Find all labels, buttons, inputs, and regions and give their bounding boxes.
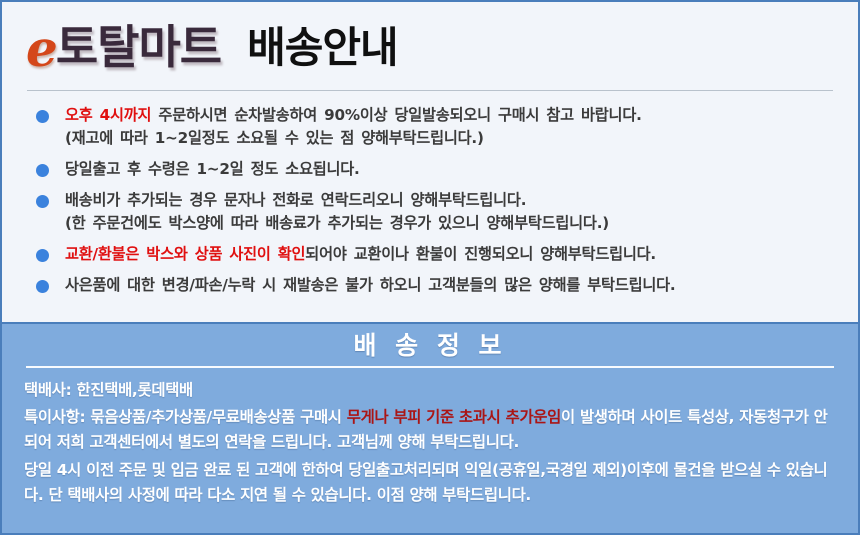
delivery-info-body: 택배사: 한진택배,롯데택배 특이사항: 묶음상품/추가상품/무료배송상품 구매… [2, 378, 858, 509]
list-item: 배송비가 추가되는 경우 문자나 전화로 연락드리오니 양해부탁드립니다. (한… [30, 189, 840, 234]
notice-text: 당일출고 후 수령은 1~2일 정도 소요됩니다. [65, 158, 360, 180]
page-header: e토탈마트 배송안내 [2, 2, 858, 90]
delivery-info-panel: 배 송 정 보 택배사: 한진택배,롯데택배 특이사항: 묶음상품/추가상품/무… [2, 322, 858, 533]
notice-emphasis: 교환/환불은 박스와 상품 사진이 확인 [65, 245, 305, 263]
notice-text: 교환/환불은 박스와 상품 사진이 확인되어야 교환이나 환불이 진행되오니 양… [65, 243, 656, 265]
bullet-icon [36, 164, 49, 177]
notice-body: 배송비가 추가되는 경우 문자나 전화로 연락드리오니 양해부탁드립니다. [65, 191, 526, 209]
page-title: 배송안내 [247, 27, 398, 69]
special-notes-line: 특이사항: 묶음상품/추가상품/무료배송상품 구매시 무게나 부피 기준 초과시… [24, 405, 836, 455]
special-prefix: 특이사항: 묶음상품/추가상품/무료배송상품 구매시 [24, 408, 347, 426]
logo-wordmark: 토탈마트 [56, 24, 221, 70]
notice-list: 오후 4시까지 주문하시면 순차발송하여 90%이상 당일발송되오니 구매시 참… [2, 90, 858, 324]
courier-line: 택배사: 한진택배,롯데택배 [24, 378, 836, 403]
notice-body: 주문하시면 순차발송하여 90%이상 당일발송되오니 구매시 참고 바랍니다. [151, 106, 641, 124]
list-item: 사은품에 대한 변경/파손/누락 시 재발송은 불가 하오니 고객분들의 많은 … [30, 274, 840, 296]
logo-e-mark: e [26, 24, 56, 74]
special-emphasis-surcharge: 추가운임 [506, 408, 561, 426]
delivery-info-divider [26, 366, 834, 368]
notice-body: 사은품에 대한 변경/파손/누락 시 재발송은 불가 하오니 고객분들의 많은 … [65, 276, 676, 294]
bullet-icon [36, 195, 49, 208]
notice-text: 배송비가 추가되는 경우 문자나 전화로 연락드리오니 양해부탁드립니다. (한… [65, 189, 609, 234]
brand-logo[interactable]: e토탈마트 [26, 21, 221, 71]
notice-subtext: (한 주문건에도 박스양에 따라 배송료가 추가되는 경우가 있으니 양해부탁드… [65, 212, 609, 234]
bullet-icon [36, 280, 49, 293]
delivery-info-title: 배 송 정 보 [2, 324, 858, 366]
shipping-notice-page: e토탈마트 배송안내 오후 4시까지 주문하시면 순차발송하여 90%이상 당일… [0, 0, 860, 535]
notice-body: 당일출고 후 수령은 1~2일 정도 소요됩니다. [65, 160, 360, 178]
notice-text: 사은품에 대한 변경/파손/누락 시 재발송은 불가 하오니 고객분들의 많은 … [65, 274, 676, 296]
bullet-icon [36, 110, 49, 123]
notice-text: 오후 4시까지 주문하시면 순차발송하여 90%이상 당일발송되오니 구매시 참… [65, 104, 642, 149]
notice-emphasis: 오후 4시까지 [65, 106, 151, 124]
notice-subtext: (재고에 따라 1~2일정도 소요될 수 있는 점 양해부탁드립니다.) [65, 127, 642, 149]
bullet-icon [36, 249, 49, 262]
special-emphasis-weight: 무게나 부피 기준 초과시 [347, 408, 501, 426]
delivery-schedule-note: 당일 4시 이전 주문 및 입금 완료 된 고객에 한하여 당일출고처리되며 익… [24, 458, 836, 508]
list-item: 오후 4시까지 주문하시면 순차발송하여 90%이상 당일발송되오니 구매시 참… [30, 104, 840, 149]
list-item: 교환/환불은 박스와 상품 사진이 확인되어야 교환이나 환불이 진행되오니 양… [30, 243, 840, 265]
header-divider [27, 90, 833, 91]
notice-body: 되어야 교환이나 환불이 진행되오니 양해부탁드립니다. [305, 245, 656, 263]
list-item: 당일출고 후 수령은 1~2일 정도 소요됩니다. [30, 158, 840, 180]
